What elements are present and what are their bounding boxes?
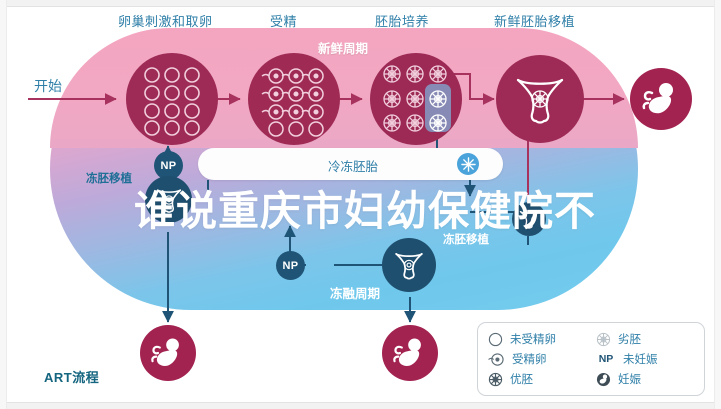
start-label: 开始 — [34, 76, 62, 96]
legend-label-pregnancy: 妊娠 — [618, 371, 641, 387]
frozen-cycle-title: 冻融周期 — [330, 283, 380, 302]
stage-label-3: 胚胎培养 — [375, 11, 429, 30]
uterus-icon — [391, 247, 427, 283]
good-embryo-icon — [488, 372, 503, 387]
baby-icon — [148, 333, 188, 373]
frozen-embryo-label: 冷冻胚胎 — [328, 156, 378, 175]
legend-panel: 未受精卵 劣胚 受 — [477, 322, 705, 396]
pregnancy-icon — [596, 372, 611, 387]
legend-label-fertilized: 受精卵 — [512, 351, 547, 367]
legend-item-fertilized: 受精卵 — [488, 351, 596, 367]
fertilized-oocyte-icon — [488, 352, 505, 367]
unfertilized-oocyte-icon — [133, 60, 211, 138]
legend-item-unfertilized: 未受精卵 — [488, 331, 596, 347]
watermark-text: 谁说重庆市妇幼保健院不 — [134, 186, 604, 236]
frame-edge-left — [0, 0, 7, 409]
node-baby-frozen-left-outcome — [140, 325, 196, 381]
stage-label-1: 卵巢刺激和取卵 — [118, 11, 213, 30]
np-text-icon: NP — [596, 353, 616, 365]
node-baby-frozen-center-outcome — [382, 325, 438, 381]
baby-icon — [639, 77, 683, 121]
fresh-cycle-title: 新鲜周期 — [318, 38, 368, 57]
frame-edge-right — [714, 0, 721, 409]
node-baby-fresh-outcome — [630, 68, 692, 130]
node-frozen-transfer-bottom — [382, 238, 436, 292]
np-marker-bottom: NP — [276, 251, 305, 280]
np-marker-bottom-label: NP — [283, 260, 299, 272]
stage-label-2: 受精 — [270, 11, 297, 30]
frame-edge-bottom — [0, 402, 721, 409]
frozen-transfer-label-left: 冻胚移植 — [86, 170, 132, 186]
legend-item-not-pregnant: NP 未妊娠 — [596, 351, 696, 367]
uterus-icon — [509, 68, 571, 130]
node-fresh-embryo-transfer — [496, 55, 584, 143]
legend-item-good-embryo: 优胚 — [488, 371, 596, 387]
node-fertilization — [248, 53, 340, 145]
legend-label-not-pregnant: 未妊娠 — [623, 351, 658, 367]
snowflake-icon — [461, 157, 476, 172]
legend-item-pregnancy: 妊娠 — [596, 371, 696, 387]
snowflake-badge — [457, 153, 479, 175]
np-marker-left-label: NP — [161, 160, 177, 172]
page-title: ART流程 — [44, 367, 99, 386]
frame-edge-top — [0, 0, 721, 7]
stage-label-4: 新鲜胚胎移植 — [494, 11, 575, 30]
legend-label-unfertilized: 未受精卵 — [510, 331, 556, 347]
diagram-canvas: 卵巢刺激和取卵 受精 胚胎培养 新鲜胚胎移植 新鲜周期 开始 — [0, 0, 721, 409]
legend-item-poor-embryo: 劣胚 — [596, 331, 696, 347]
node-oocyte-retrieval — [126, 53, 218, 145]
poor-embryo-icon — [596, 332, 611, 347]
legend-label-poor-embryo: 劣胚 — [618, 331, 641, 347]
legend-label-good-embryo: 优胚 — [510, 371, 533, 387]
unfertilized-oocyte-icon — [488, 332, 503, 347]
good-embryo-grid-icon — [382, 64, 450, 134]
fertilized-oocyte-icon — [254, 60, 334, 138]
baby-icon — [390, 333, 430, 373]
